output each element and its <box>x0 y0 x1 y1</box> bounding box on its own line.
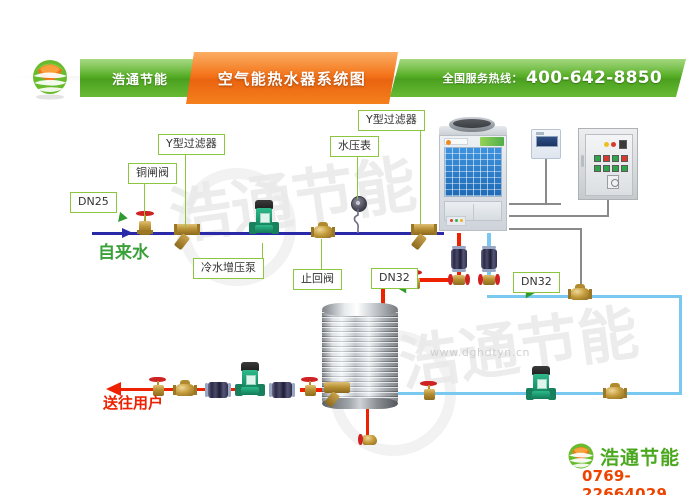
gate-valve <box>300 377 320 399</box>
check-valve <box>603 383 627 403</box>
cold-water-booster-pump <box>249 200 279 238</box>
check-valve <box>568 284 592 304</box>
footer-logo: 浩通节能 0769-22664029 <box>566 440 694 488</box>
signal-wire <box>580 228 582 288</box>
signal-wire <box>509 203 561 205</box>
flexible-connector <box>205 382 231 398</box>
hotline-label: 全国服务热线： <box>443 70 524 86</box>
leader-line <box>144 183 145 219</box>
to-users-text: 送往用户 <box>103 392 163 413</box>
gate-valve <box>448 272 470 288</box>
flexible-connector <box>481 246 497 272</box>
brass-gate-valve <box>134 211 156 237</box>
page-title: 空气能热水器系统图 <box>186 52 398 104</box>
leader-line <box>420 130 421 225</box>
header-banner: 浩通节能 空气能热水器系统图 全国服务热线： 400-642-8850 <box>0 26 700 82</box>
flow-arrow-icon <box>122 228 133 238</box>
label-y-strainer-1: Y型过滤器 <box>158 134 225 155</box>
flexible-connector <box>269 382 295 398</box>
diagram-canvas: 浩通节能 浩通节能 www.dghdtyn.cn 浩通节能 空气能热水器系统图 … <box>0 0 700 495</box>
signal-wire <box>509 215 609 217</box>
tap-water-text: 自来水 <box>98 238 149 263</box>
water-pressure-gauge <box>346 196 368 234</box>
leader-line <box>262 243 263 259</box>
gate-valve <box>419 381 439 403</box>
signal-wire <box>607 200 609 216</box>
leader-line <box>185 154 186 228</box>
label-cold-water-booster-pump: 冷水增压泵 <box>193 258 264 279</box>
air-source-heat-pump-unit <box>437 117 509 233</box>
hotline-number: 400-642-8850 <box>526 68 662 88</box>
check-valve <box>173 380 197 400</box>
y-strainer <box>324 381 350 405</box>
label-brass-gate-valve: 铜闸阀 <box>128 163 177 184</box>
wall-controller-display[interactable] <box>531 129 561 159</box>
hotline: 全国服务热线： 400-642-8850 <box>390 59 676 97</box>
leader-line <box>321 239 322 270</box>
label-y-strainer-2: Y型过滤器 <box>358 110 425 131</box>
watermark-url: www.dghdtyn.cn <box>430 346 530 359</box>
gate-valve <box>478 272 500 288</box>
label-dn25: DN25 <box>70 192 117 213</box>
footer-telephone: 0769-22664029 <box>582 467 694 495</box>
footer-brand-text: 浩通节能 <box>600 443 680 470</box>
leader-line <box>357 156 358 199</box>
y-strainer <box>174 222 200 248</box>
signal-wire <box>509 228 581 230</box>
flexible-connector <box>451 246 467 272</box>
hot-water-circulation-pump <box>235 362 265 400</box>
return-circulation-pump <box>526 366 556 404</box>
label-dn32-hot: DN32 <box>371 268 418 289</box>
leader-arrow-icon <box>114 212 127 225</box>
y-strainer <box>411 222 437 248</box>
gate-valve <box>358 432 380 448</box>
label-dn32-cold: DN32 <box>513 272 560 293</box>
globe-logo-icon <box>28 57 72 101</box>
header-brand-text: 浩通节能 <box>80 59 200 97</box>
electrical-control-cabinet <box>578 128 638 200</box>
label-check-valve: 止回阀 <box>293 269 342 290</box>
label-water-pressure-gauge: 水压表 <box>330 136 379 157</box>
return-line-pipe <box>679 296 682 394</box>
signal-wire <box>545 159 547 204</box>
check-valve <box>311 222 335 242</box>
